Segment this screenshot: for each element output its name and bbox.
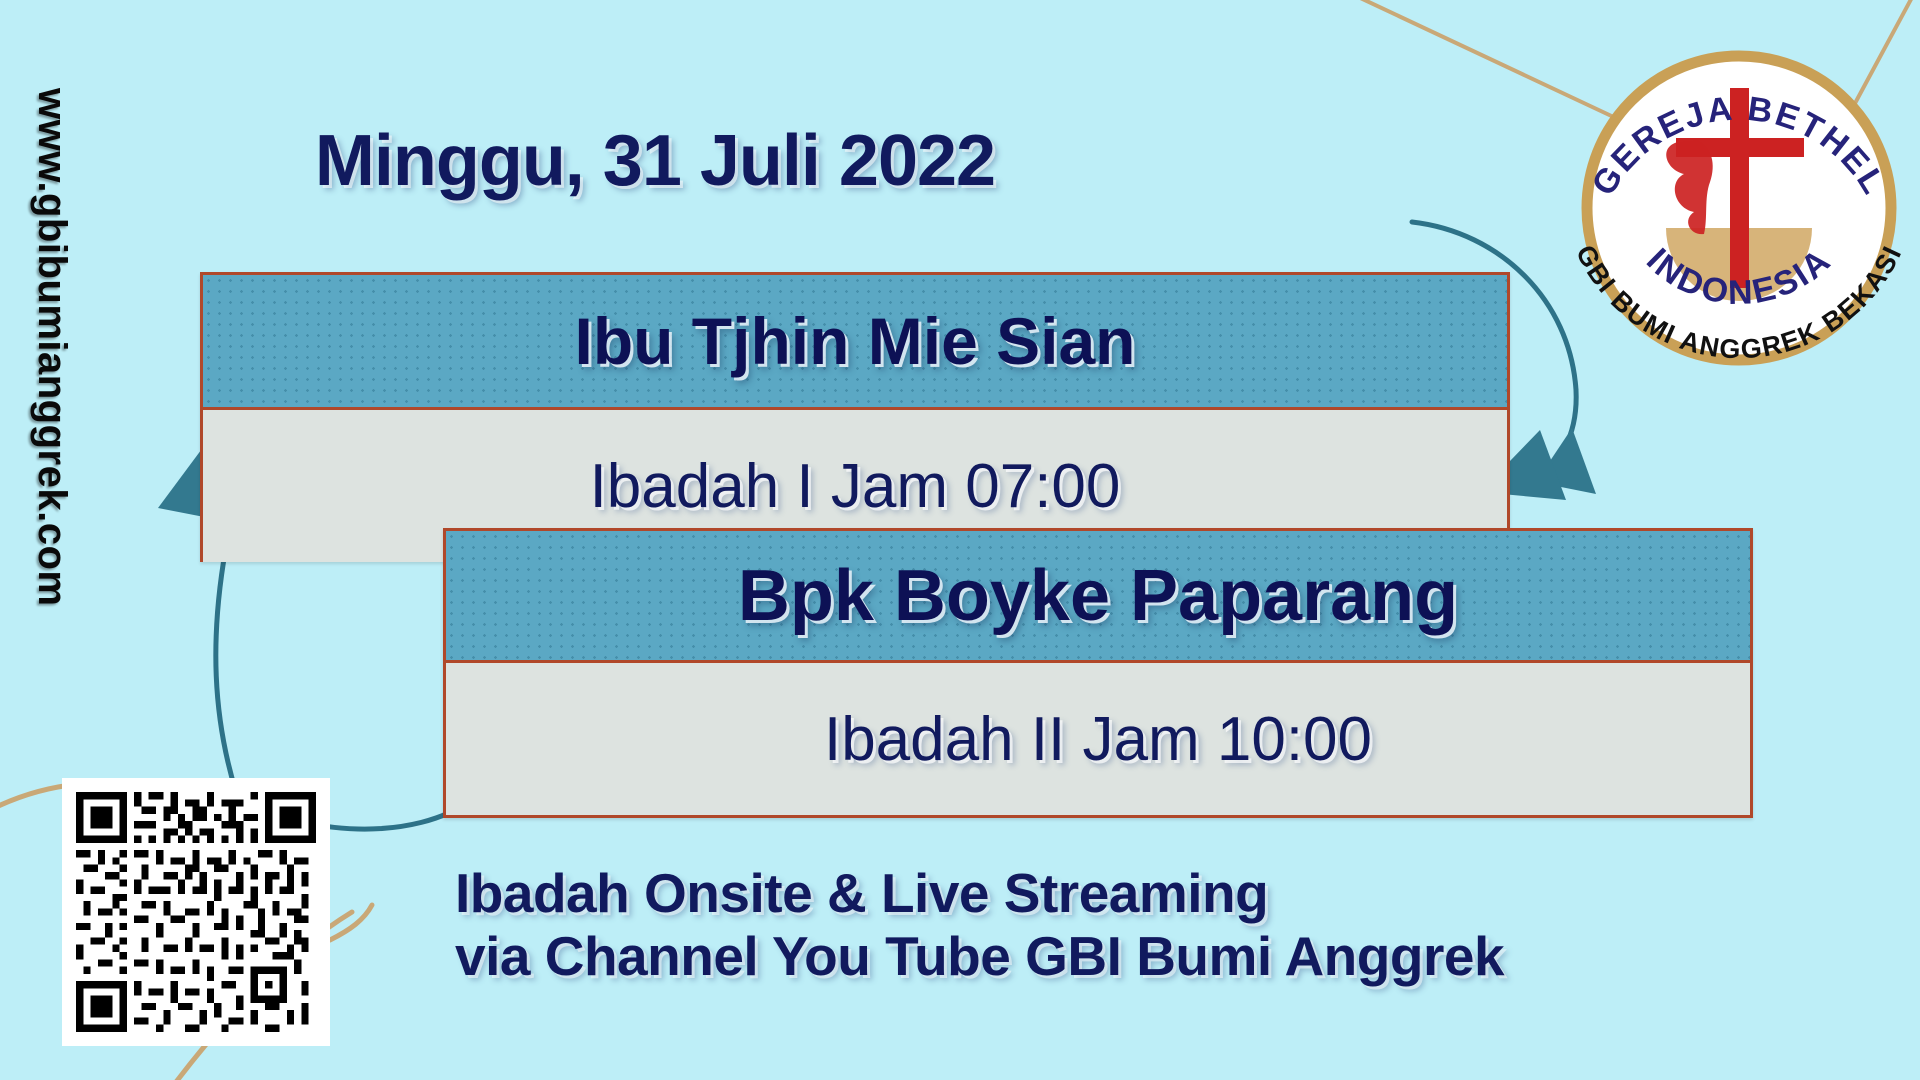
page-title: Minggu, 31 Juli 2022 (0, 120, 1310, 202)
poster-canvas: www.gbibumianggrek.com Minggu, 31 Juli 2… (0, 0, 1920, 1080)
service-card-2-header: Bpk Boyke Paparang (446, 531, 1750, 663)
service-card-2-body: Ibadah II Jam 10:00 (446, 663, 1750, 815)
service-time: Ibadah II Jam 10:00 (824, 704, 1372, 775)
speaker-name: Ibu Tjhin Mie Sian (575, 303, 1136, 379)
service-card-1: Ibu Tjhin Mie Sian Ibadah I Jam 07:00 (200, 272, 1510, 562)
caption-line-1: Ibadah Onsite & Live Streaming (455, 862, 1755, 925)
service-time: Ibadah I Jam 07:00 (590, 451, 1121, 522)
caption-line-2: via Channel You Tube GBI Bumi Anggrek (455, 925, 1755, 988)
service-card-1-header: Ibu Tjhin Mie Sian (203, 275, 1507, 410)
speaker-name: Bpk Boyke Paparang (738, 555, 1458, 637)
gbi-logo: GEREJA BETHEL INDONESIA GBI BUMI ANGGREK… (1558, 22, 1920, 384)
service-card-2: Bpk Boyke Paparang Ibadah II Jam 10:00 (443, 528, 1753, 818)
qr-code[interactable] (62, 778, 330, 1046)
streaming-caption: Ibadah Onsite & Live Streaming via Chann… (455, 862, 1755, 987)
